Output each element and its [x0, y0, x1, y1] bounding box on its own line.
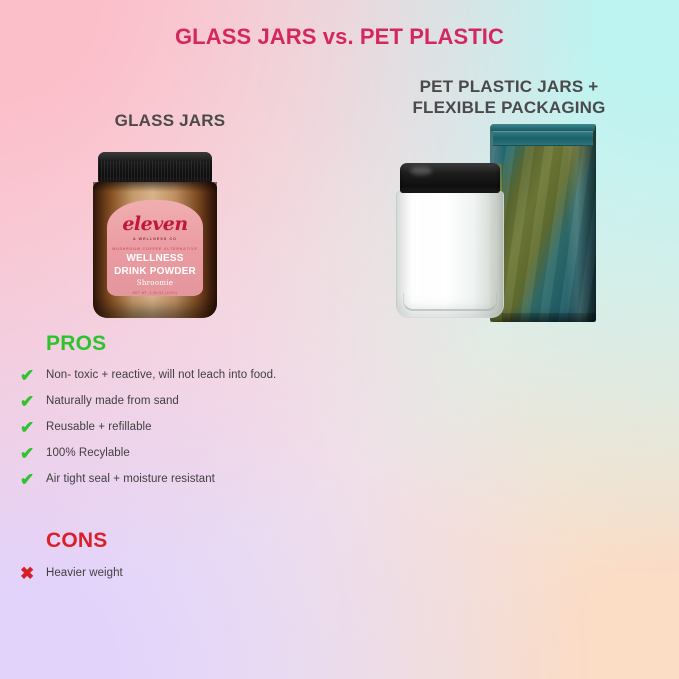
label-name-line1: WELLNESS — [107, 253, 203, 264]
list-item: ✔ Reusable + refillable — [20, 419, 330, 437]
list-item-text: 100% Recylable — [46, 445, 130, 461]
glass-jar-image: eleven A WELLNESS CO MUSHROOM COFFEE ALT… — [93, 152, 217, 318]
label-kicker: MUSHROOM COFFEE ALTERNATIVE — [107, 247, 203, 251]
right-column-header: PET PLASTIC JARS + FLEXIBLE PACKAGING — [339, 76, 679, 118]
list-item: ✔ Naturally made from sand — [20, 393, 330, 411]
label-variant: Shroomie — [107, 279, 203, 287]
left-pros-list: ✔ Non- toxic + reactive, will not leach … — [20, 367, 330, 497]
label-net-weight: NET WT. 3.45 OZ (100G) — [107, 291, 203, 295]
column-pet-plastic: PET PLASTIC JARS + FLEXIBLE PACKAGING PR… — [339, 0, 679, 679]
check-icon: ✔ — [20, 419, 46, 437]
check-icon: ✔ — [20, 393, 46, 411]
glass-jar-lid — [98, 152, 212, 184]
check-icon: ✔ — [20, 445, 46, 463]
list-item: ✔ 100% Recylable — [20, 445, 330, 463]
pet-jar-lid — [400, 163, 500, 193]
flexible-pouch-image — [490, 124, 596, 322]
left-column-header: GLASS JARS — [0, 110, 340, 131]
pet-jar-image — [396, 163, 504, 318]
list-item-text: Reusable + refillable — [46, 419, 152, 435]
right-column-header-line1: PET PLASTIC JARS + — [339, 76, 679, 97]
list-item: ✔ Non- toxic + reactive, will not leach … — [20, 367, 330, 385]
infographic-page: GLASS JARS vs. PET PLASTIC GLASS JARS el… — [0, 0, 679, 679]
check-icon: ✔ — [20, 367, 46, 385]
label-name-line2: DRINK POWDER — [107, 266, 203, 277]
list-item-text: Naturally made from sand — [46, 393, 179, 409]
pouch-body — [490, 124, 596, 322]
left-pros-title: PROS — [46, 332, 106, 356]
check-icon: ✔ — [20, 471, 46, 489]
list-item-text: Air tight seal + moisture resistant — [46, 471, 215, 487]
column-glass-jars: GLASS JARS eleven A WELLNESS CO MUSHROOM… — [0, 0, 340, 679]
pouch-bottom-seal — [490, 313, 596, 322]
pouch-zip-seal — [493, 131, 593, 146]
pet-jar-body — [396, 191, 504, 318]
cross-icon: ✖ — [20, 565, 46, 583]
right-column-header-line2: FLEXIBLE PACKAGING — [339, 97, 679, 118]
list-item: ✖ Heavier weight — [20, 565, 330, 583]
left-cons-list: ✖ Heavier weight — [20, 565, 330, 591]
glass-jar-label: eleven A WELLNESS CO MUSHROOM COFFEE ALT… — [107, 200, 203, 296]
pouch-top-seal — [491, 124, 595, 131]
list-item-text: Non- toxic + reactive, will not leach in… — [46, 367, 276, 383]
list-item: ✔ Air tight seal + moisture resistant — [20, 471, 330, 489]
label-brand: eleven — [107, 215, 203, 234]
list-item-text: Heavier weight — [46, 565, 123, 581]
left-cons-title: CONS — [46, 529, 107, 553]
label-brand-sub: A WELLNESS CO — [107, 237, 203, 241]
